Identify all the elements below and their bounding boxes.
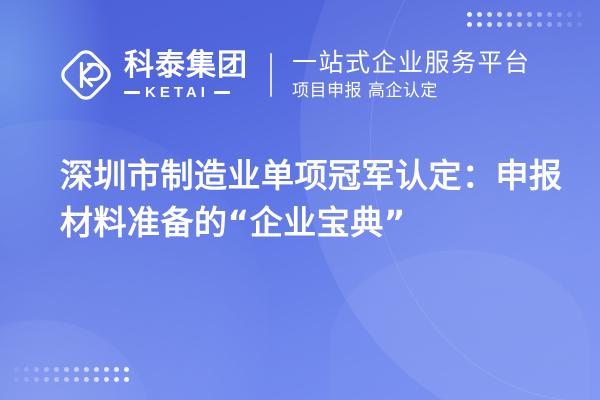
decorative-dot (114, 367, 119, 372)
decorative-dot (517, 12, 522, 17)
decorative-dot (44, 377, 49, 382)
decorative-dot (477, 12, 482, 17)
decorative-dot (84, 367, 89, 372)
decorative-dot (537, 22, 542, 27)
bottom-column-highlight (330, 250, 590, 400)
decorative-dot (64, 377, 69, 382)
decorative-dot (527, 12, 532, 17)
decorative-dot (54, 377, 59, 382)
logo-english-name: KETAI (145, 85, 209, 100)
decorative-dot (487, 22, 492, 27)
decorative-dot (477, 22, 482, 27)
dot-row (467, 22, 582, 27)
decorative-dot (557, 12, 562, 17)
ketai-diamond-monogram-icon (58, 47, 114, 103)
logo-chinese-name: 科泰集团 (124, 50, 248, 82)
logo-dash-right-icon (214, 91, 230, 94)
decorative-dot (557, 22, 562, 27)
decorative-dot (507, 22, 512, 27)
decorative-dot (497, 22, 502, 27)
decorative-dot (74, 367, 79, 372)
tagline-sub-text: 项目申报 高企认定 (292, 80, 531, 102)
decorative-dot (34, 367, 39, 372)
promo-banner: 科泰集团 KETAI 一站式企业服务平台 项目申报 高企认定 深圳市制造业单项冠… (0, 0, 600, 400)
logo-dash-left-icon (124, 91, 140, 94)
decorative-dot (497, 12, 502, 17)
decorative-dot (24, 377, 29, 382)
page-title-line-2: 材料准备的“企业宝典” (60, 199, 550, 246)
logo-english-row: KETAI (124, 85, 248, 100)
header-divider (270, 53, 272, 97)
decorative-dot (507, 12, 512, 17)
decorative-dot (84, 377, 89, 382)
dot-grid-bottom-left (14, 367, 129, 382)
bottom-left-arc-shape (0, 320, 150, 400)
decorative-dot (547, 12, 552, 17)
decorative-dot (14, 367, 19, 372)
decorative-dot (467, 22, 472, 27)
decorative-dot (467, 12, 472, 17)
decorative-dot (124, 367, 129, 372)
decorative-dot (74, 377, 79, 382)
decorative-dot (14, 377, 19, 382)
decorative-dot (547, 22, 552, 27)
dot-row (14, 377, 129, 382)
decorative-dot (577, 12, 582, 17)
decorative-dot (104, 377, 109, 382)
decorative-dot (94, 377, 99, 382)
decorative-dot (517, 22, 522, 27)
decorative-dot (34, 377, 39, 382)
decorative-dot (567, 22, 572, 27)
decorative-dot (94, 367, 99, 372)
decorative-dot (124, 377, 129, 382)
dot-grid-top-right (467, 12, 582, 27)
decorative-dot (44, 367, 49, 372)
tagline-main-text: 一站式企业服务平台 (292, 48, 531, 77)
decorative-dot (54, 367, 59, 372)
dot-row (467, 12, 582, 17)
decorative-dot (487, 12, 492, 17)
decorative-dot (64, 367, 69, 372)
decorative-dot (24, 367, 29, 372)
banner-header: 科泰集团 KETAI 一站式企业服务平台 项目申报 高企认定 (58, 44, 531, 106)
decorative-dot (537, 12, 542, 17)
page-title: 深圳市制造业单项冠军认定：申报 材料准备的“企业宝典” (60, 152, 550, 246)
decorative-dot (577, 22, 582, 27)
logo-wordmark: 科泰集团 KETAI (124, 50, 248, 100)
page-title-line-1: 深圳市制造业单项冠军认定：申报 (60, 152, 550, 199)
dot-row (14, 367, 129, 372)
decorative-dot (567, 12, 572, 17)
tagline-block: 一站式企业服务平台 项目申报 高企认定 (292, 48, 531, 102)
decorative-dot (104, 367, 109, 372)
decorative-dot (527, 22, 532, 27)
brand-logo[interactable]: 科泰集团 KETAI (58, 47, 248, 103)
decorative-dot (114, 377, 119, 382)
